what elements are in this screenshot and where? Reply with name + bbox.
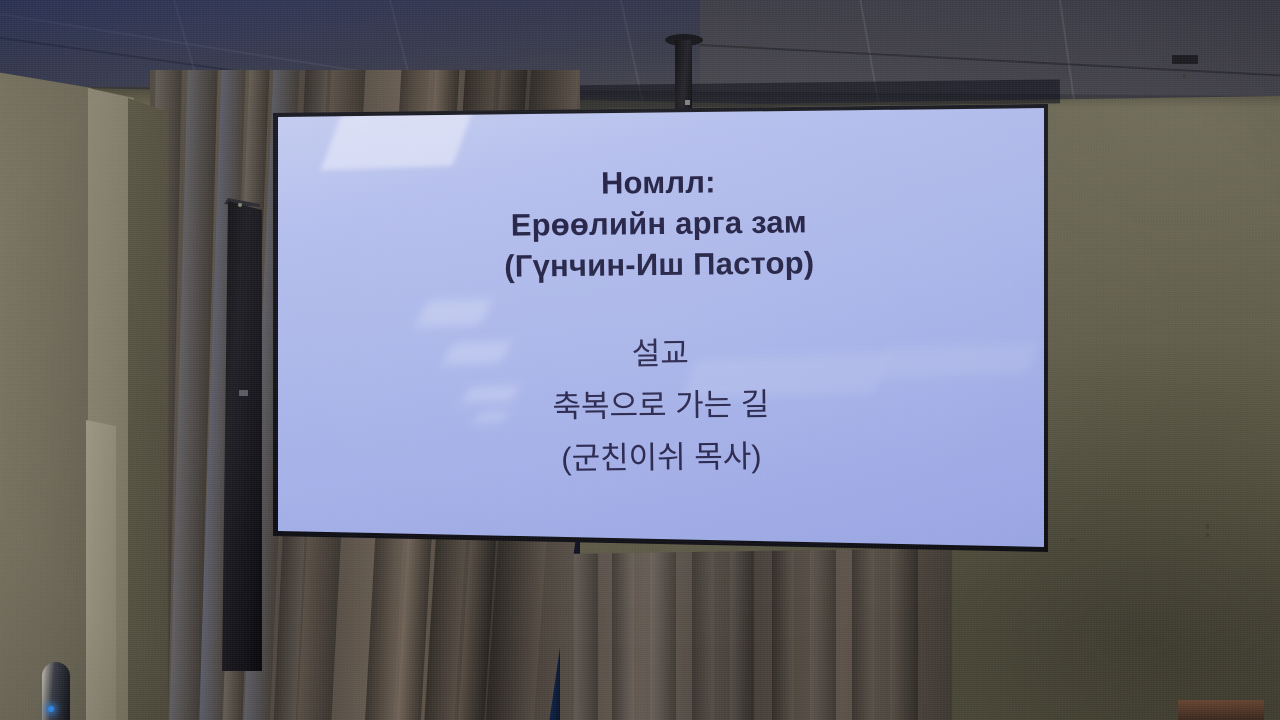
wall-mark <box>1206 524 1209 529</box>
floor-device-led-icon <box>48 706 54 712</box>
column-speaker <box>222 201 262 671</box>
screen-glare-reflection <box>473 411 508 422</box>
curtain-fold <box>650 548 676 720</box>
wall-mark <box>1070 538 1075 541</box>
screen-glare-reflection <box>416 299 493 327</box>
wall-pillar-return <box>128 78 168 720</box>
screen-glare-reflection <box>682 353 887 400</box>
curtain-fold <box>692 548 714 720</box>
curtain-fold <box>772 548 794 720</box>
screen-glare-reflection <box>443 341 512 365</box>
curtain-fold <box>730 548 754 720</box>
curtain-fold <box>810 548 836 720</box>
wall-mark <box>1183 74 1186 78</box>
screen-glare-reflection <box>876 343 1038 378</box>
room-photo-scene: Номлл: Ерөөлийн арга зам (Гүнчин-Иш Паст… <box>0 0 1280 720</box>
lower-curtain-panel <box>560 548 952 720</box>
wall-pillar-face <box>0 72 92 720</box>
screen-glare-reflection <box>462 385 520 403</box>
wall-fixture <box>1172 55 1198 64</box>
speaker-top-screw <box>238 203 242 207</box>
display-screen[interactable] <box>270 100 1050 556</box>
curtain-fold <box>890 548 918 720</box>
curtain-fold <box>574 548 598 720</box>
wall-mark <box>1206 533 1209 537</box>
ceiling-mount-pole <box>675 40 692 118</box>
curtain-fold <box>612 548 634 720</box>
mount-screw <box>685 100 690 105</box>
speaker-logo-badge <box>239 390 248 396</box>
floor-device <box>42 662 70 720</box>
floor-object <box>1178 700 1264 720</box>
wall-pillar-strip <box>86 420 116 720</box>
screen-glare-reflection <box>321 110 473 171</box>
curtain-fold <box>852 548 874 720</box>
